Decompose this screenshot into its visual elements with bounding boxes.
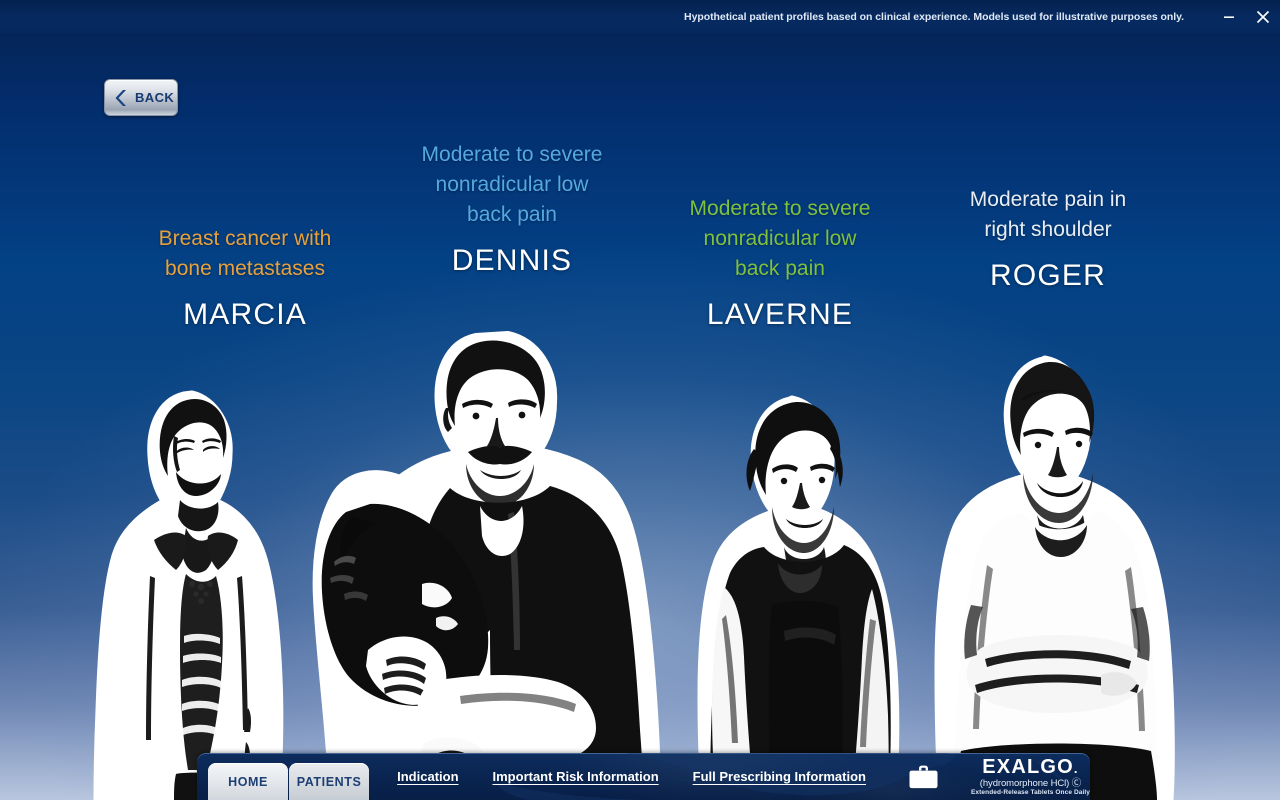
back-button-label: BACK xyxy=(135,90,174,105)
patient-label-dennis: Moderate to severe nonradicular low back… xyxy=(387,140,637,278)
patient-figure-marcia[interactable] xyxy=(88,390,328,800)
briefcase-button[interactable] xyxy=(908,764,939,790)
patient-name: MARCIA xyxy=(120,298,370,332)
patient-label-laverne: Moderate to severe nonradicular low back… xyxy=(655,194,905,332)
tab-home-label: HOME xyxy=(228,775,268,789)
patient-name: ROGER xyxy=(923,259,1173,293)
logo-tagline: Extended-Release Tablets Once Daily xyxy=(971,790,1090,797)
briefcase-icon xyxy=(908,764,939,790)
close-icon xyxy=(1254,8,1272,26)
close-button[interactable] xyxy=(1246,0,1280,33)
roger-silhouette xyxy=(925,355,1185,800)
dennis-silhouette xyxy=(300,330,690,800)
link-full-prescribing-information[interactable]: Full Prescribing Information xyxy=(693,769,866,784)
tab-home[interactable]: HOME xyxy=(208,763,288,800)
patient-name: LAVERNE xyxy=(655,298,905,332)
patient-condition: Moderate to severe nonradicular low back… xyxy=(655,194,905,284)
link-important-risk-information[interactable]: Important Risk Information xyxy=(493,769,659,784)
patient-condition: Moderate to severe nonradicular low back… xyxy=(387,140,637,230)
marcia-silhouette xyxy=(88,390,328,800)
link-indication[interactable]: Indication xyxy=(397,769,458,784)
exalgo-logo: EXALGO. (hydromorphone HCl) Ⓒ Extended-R… xyxy=(971,757,1090,797)
patient-figure-laverne[interactable] xyxy=(680,395,920,800)
patient-figure-roger[interactable] xyxy=(925,355,1185,800)
logo-generic-name: (hydromorphone HCl) Ⓒ xyxy=(980,779,1081,789)
patient-name: DENNIS xyxy=(387,244,637,278)
laverne-silhouette xyxy=(680,395,920,800)
bottom-navigation-bar: HOME PATIENTS Indication Important Risk … xyxy=(197,753,1090,800)
nav-links: Indication Important Risk Information Fu… xyxy=(397,753,1090,800)
logo-brand-dot: . xyxy=(1074,762,1079,775)
disclaimer-text: Hypothetical patient profiles based on c… xyxy=(684,11,1184,23)
patient-selection-screen: Hypothetical patient profiles based on c… xyxy=(0,0,1280,800)
patient-label-roger: Moderate pain in right shoulder ROGER xyxy=(923,185,1173,293)
minimize-button[interactable] xyxy=(1212,0,1246,33)
tab-patients-label: PATIENTS xyxy=(297,775,362,789)
patient-figure-dennis[interactable] xyxy=(300,330,690,800)
logo-brand: EXALGO xyxy=(982,757,1074,777)
patient-condition: Moderate pain in right shoulder xyxy=(923,185,1173,245)
window-title-bar: Hypothetical patient profiles based on c… xyxy=(0,0,1280,33)
patient-condition: Breast cancer with bone metastases xyxy=(120,224,370,284)
logo-wordmark: EXALGO. xyxy=(982,757,1078,777)
chevron-left-icon xyxy=(114,88,130,108)
tab-patients[interactable]: PATIENTS xyxy=(289,763,369,800)
minimize-icon xyxy=(1221,9,1237,25)
back-button[interactable]: BACK xyxy=(104,79,178,116)
patient-label-marcia: Breast cancer with bone metastases MARCI… xyxy=(120,224,370,332)
